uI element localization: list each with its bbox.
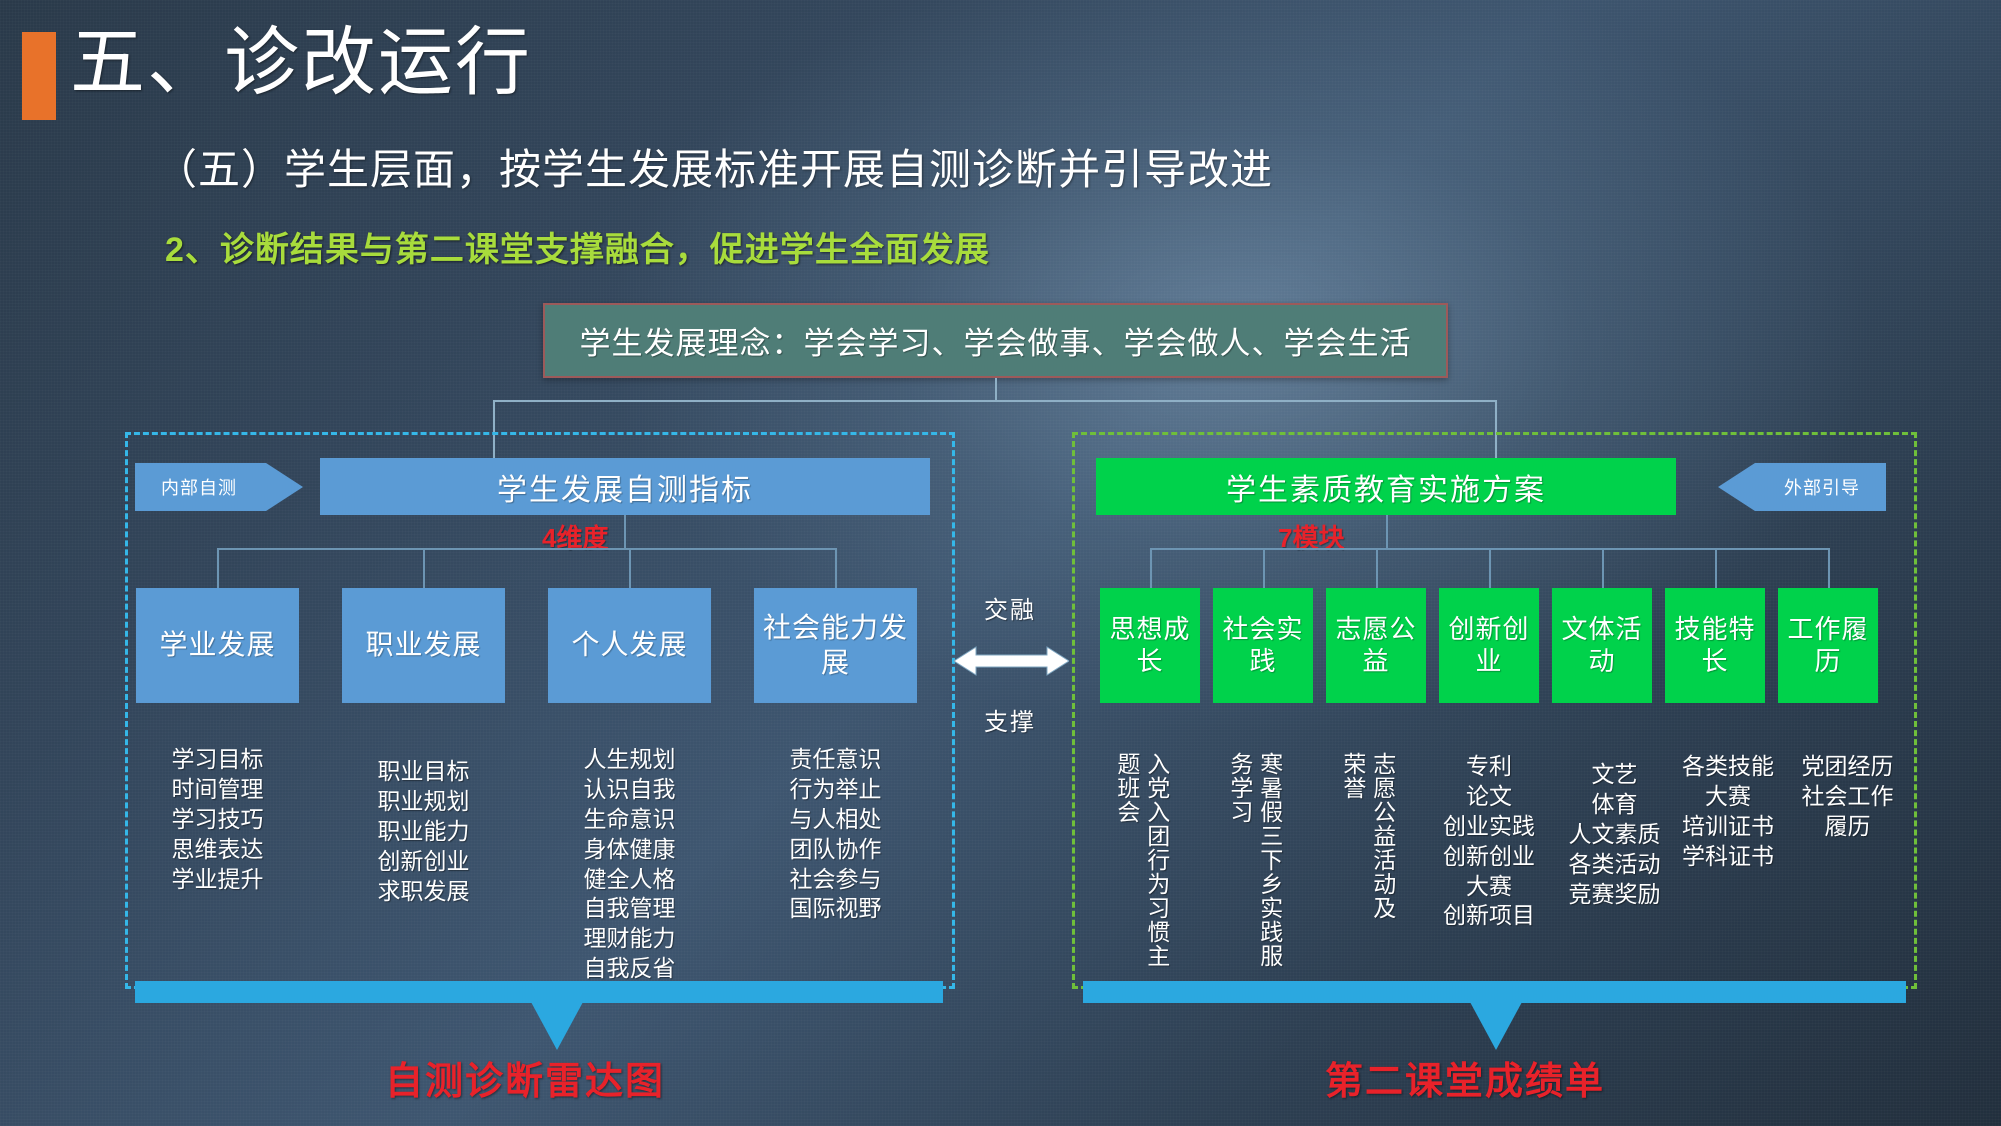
external-guidance-tag-label: 外部引导 (1784, 474, 1860, 500)
right-panel-header-label: 学生素质教育实施方案 (1226, 465, 1546, 509)
concept-banner: 学生发展理念：学会学习、学会做事、学会做人、学会生活 (543, 303, 1448, 378)
category-box-career-label: 职业发展 (365, 628, 481, 662)
module-box-innovation-label: 创新创业 (1439, 614, 1539, 677)
detail-list-work-record: 党团经历 社会工作 履历 (1790, 752, 1905, 842)
left-tree-drop-2 (423, 548, 425, 588)
left-panel-header-label: 学生发展自测指标 (497, 465, 753, 509)
left-output-bar (135, 981, 943, 1003)
right-tree-drop-3 (1376, 548, 1378, 588)
detail-list-culture-sports: 文艺 体育 人文素质 各类活动 竞赛奖励 (1552, 760, 1677, 909)
right-tree-drop-2 (1263, 548, 1265, 588)
left-tree-drop-3 (629, 548, 631, 588)
detail-list-career: 职业目标 职业规划 职业能力 创新创业 求职发展 (342, 757, 505, 906)
left-output-pointer (531, 1002, 583, 1050)
title-accent-bar (22, 32, 56, 120)
category-box-social[interactable]: 社会能力发展 (754, 588, 917, 703)
detail-list-ideology: 入党入团行为习惯主题班会 (1111, 752, 1171, 972)
left-tree-bus (217, 548, 835, 550)
right-tree-drop-7 (1828, 548, 1830, 588)
exchange-arrow-icon (954, 645, 1069, 677)
page-subtitle: （五）学生层面，按学生发展标准开展自测诊断并引导改进 (155, 136, 1273, 197)
right-output-label: 第二课堂成绩单 (1325, 1050, 1605, 1105)
connector-concept-stem (995, 378, 997, 400)
right-tree-drop-5 (1602, 548, 1604, 588)
left-tree-drop-1 (217, 548, 219, 588)
category-box-career[interactable]: 职业发展 (342, 588, 505, 703)
connector-concept-horizontal (493, 400, 1497, 402)
module-box-volunteer[interactable]: 志愿公益 (1326, 588, 1426, 703)
detail-list-volunteer: 志愿公益活动及荣誉 (1337, 752, 1397, 932)
internal-assessment-tag-label: 内部自测 (161, 474, 237, 500)
detail-list-social-practice: 寒暑假三下乡实践服务学习 (1224, 752, 1284, 977)
right-tree-drop-4 (1489, 548, 1491, 588)
module-box-ideology[interactable]: 思想成长 (1100, 588, 1200, 703)
left-panel-header: 学生发展自测指标 (320, 458, 930, 515)
category-box-academic[interactable]: 学业发展 (136, 588, 299, 703)
section-heading: 2、诊断结果与第二课堂支撑融合，促进学生全面发展 (165, 222, 990, 271)
module-box-culture-sports-label: 文体活动 (1552, 614, 1652, 677)
category-box-personal-label: 个人发展 (571, 628, 687, 662)
category-box-social-label: 社会能力发展 (754, 611, 917, 679)
right-tree-stem (1386, 515, 1388, 548)
right-tree-drop-6 (1715, 548, 1717, 588)
detail-list-skills: 各类技能 大赛 培训证书 学科证书 (1668, 752, 1788, 872)
middle-label-top: 交融 (984, 590, 1036, 625)
right-output-pointer (1470, 1002, 1522, 1050)
module-box-innovation[interactable]: 创新创业 (1439, 588, 1539, 703)
left-tree-stem (624, 515, 626, 548)
detail-list-personal: 人生规划 认识自我 生命意识 身体健康 健全人格 自我管理 理财能力 自我反省 (548, 745, 711, 984)
left-output-label: 自测诊断雷达图 (385, 1050, 665, 1105)
module-box-skills-label: 技能特长 (1665, 614, 1765, 677)
page-title: 五、诊改运行 (70, 22, 532, 103)
module-box-work-record[interactable]: 工作履历 (1778, 588, 1878, 703)
middle-label-bottom: 支撑 (984, 702, 1036, 737)
detail-list-social: 责任意识 行为举止 与人相处 团队协作 社会参与 国际视野 (754, 745, 917, 924)
left-tree-drop-4 (835, 548, 837, 588)
module-box-social-practice[interactable]: 社会实践 (1213, 588, 1313, 703)
detail-list-academic: 学习目标 时间管理 学习技巧 思维表达 学业提升 (136, 745, 299, 894)
module-box-social-practice-label: 社会实践 (1213, 614, 1313, 677)
right-panel-header: 学生素质教育实施方案 (1096, 458, 1676, 515)
module-box-culture-sports[interactable]: 文体活动 (1552, 588, 1652, 703)
right-tree-drop-1 (1150, 548, 1152, 588)
module-box-ideology-label: 思想成长 (1100, 614, 1200, 677)
category-box-academic-label: 学业发展 (159, 628, 275, 662)
concept-banner-text: 学生发展理念：学会学习、学会做事、学会做人、学会生活 (580, 318, 1412, 363)
module-box-work-record-label: 工作履历 (1778, 614, 1878, 677)
right-output-bar (1083, 981, 1906, 1003)
category-box-personal[interactable]: 个人发展 (548, 588, 711, 703)
module-box-skills[interactable]: 技能特长 (1665, 588, 1765, 703)
module-box-volunteer-label: 志愿公益 (1326, 614, 1426, 677)
detail-list-innovation: 专利 论文 创业实践 创新创业 大赛 创新项目 (1419, 752, 1559, 931)
